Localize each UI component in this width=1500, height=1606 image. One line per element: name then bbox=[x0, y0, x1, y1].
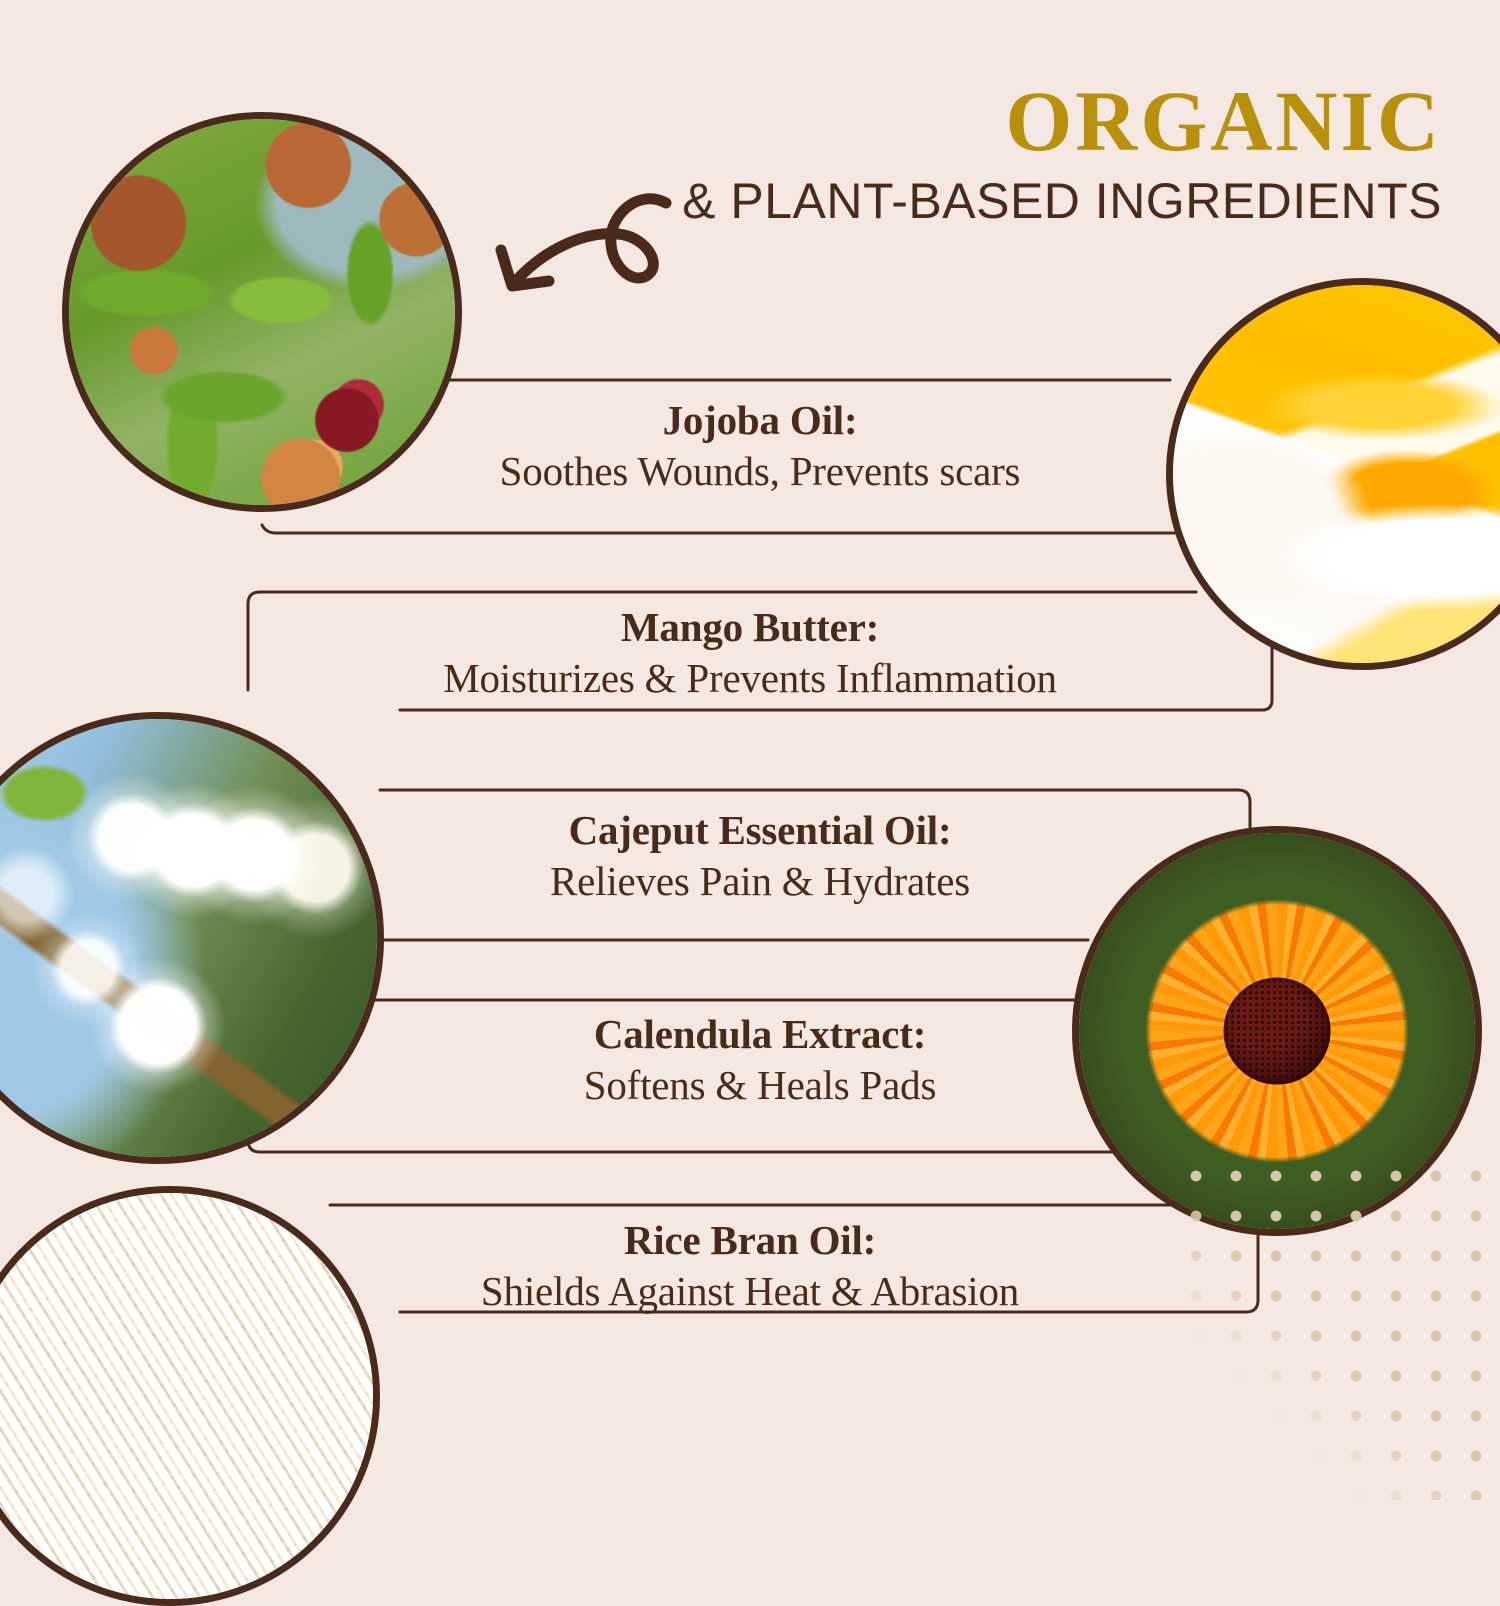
mango-butter-photo bbox=[1166, 278, 1500, 670]
mango-image-art bbox=[1173, 285, 1500, 663]
ingredient-name: Cajeput Essential Oil: bbox=[420, 808, 1100, 854]
ingredient-row-rice: Rice Bran Oil: Shields Against Heat & Ab… bbox=[380, 1218, 1120, 1315]
curly-arrow-icon bbox=[468, 178, 698, 323]
ingredient-name: Jojoba Oil: bbox=[390, 398, 1130, 444]
ingredient-name: Calendula Extract: bbox=[420, 1012, 1100, 1058]
calendula-flower-photo bbox=[1072, 826, 1482, 1236]
cajeput-flower-photo bbox=[0, 712, 384, 1164]
ingredient-benefit: Soothes Wounds, Prevents scars bbox=[390, 448, 1130, 496]
cajeput-image-art bbox=[0, 719, 377, 1157]
page-title: ORGANIC bbox=[682, 78, 1442, 166]
ingredient-benefit: Shields Against Heat & Abrasion bbox=[380, 1268, 1120, 1316]
ingredient-benefit: Softens & Heals Pads bbox=[420, 1062, 1100, 1110]
ingredient-row-cajeput: Cajeput Essential Oil: Relieves Pain & H… bbox=[420, 808, 1100, 905]
header-block: ORGANIC & PLANT-BASED INGREDIENTS bbox=[682, 78, 1442, 229]
rice-grains-photo bbox=[0, 1186, 380, 1606]
rice-image-art bbox=[0, 1193, 373, 1599]
ingredient-name: Rice Bran Oil: bbox=[380, 1218, 1120, 1264]
ingredient-row-calendula: Calendula Extract: Softens & Heals Pads bbox=[420, 1012, 1100, 1109]
ingredient-row-jojoba: Jojoba Oil: Soothes Wounds, Prevents sca… bbox=[390, 398, 1130, 495]
ingredient-benefit: Moisturizes & Prevents Inflammation bbox=[330, 655, 1170, 703]
ingredient-row-mango: Mango Butter: Moisturizes & Prevents Inf… bbox=[330, 605, 1170, 702]
ingredient-benefit: Relieves Pain & Hydrates bbox=[420, 858, 1100, 906]
infographic-canvas: ORGANIC & PLANT-BASED INGREDIENTS Jojoba… bbox=[0, 0, 1500, 1500]
ingredient-name: Mango Butter: bbox=[330, 605, 1170, 651]
page-subtitle: & PLANT-BASED INGREDIENTS bbox=[682, 174, 1442, 229]
calendula-vignette bbox=[1079, 833, 1475, 1229]
